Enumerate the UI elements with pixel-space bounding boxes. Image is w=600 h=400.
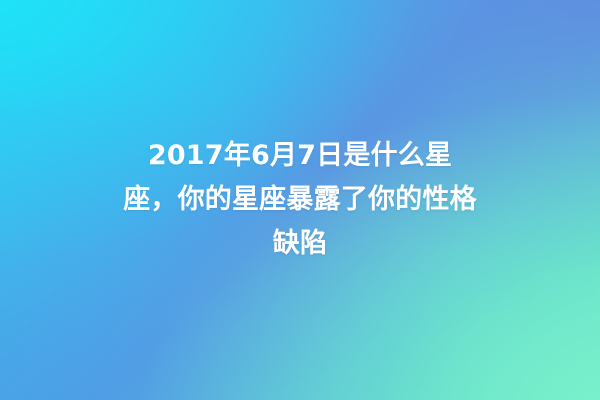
gradient-banner: 2017年6月7日是什么星座，你的星座暴露了你的性格缺陷 xyxy=(0,0,600,400)
headline-container: 2017年6月7日是什么星座，你的星座暴露了你的性格缺陷 xyxy=(0,0,600,400)
banner-headline: 2017年6月7日是什么星座，你的星座暴露了你的性格缺陷 xyxy=(122,134,478,266)
